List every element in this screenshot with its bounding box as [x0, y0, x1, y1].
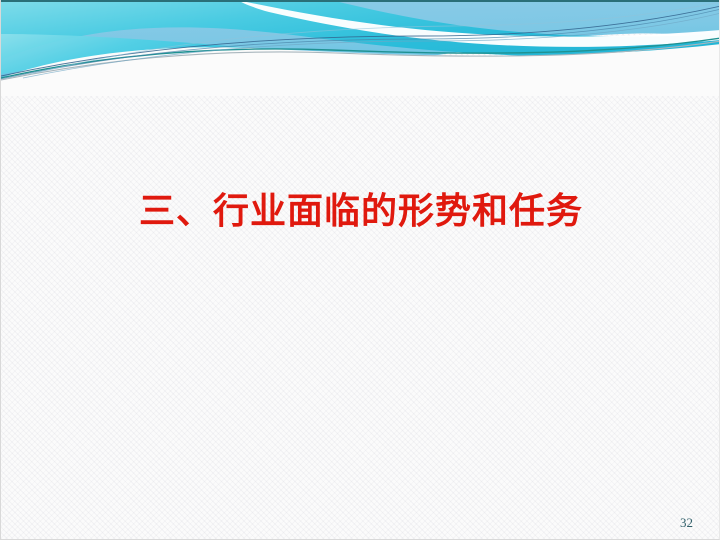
- page-title: 三、行业面临的形势和任务: [139, 188, 583, 234]
- presentation-slide: 三、行业面临的形势和任务 32: [0, 0, 720, 540]
- page-number: 32: [680, 515, 693, 531]
- title-block: 三、行业面临的形势和任务: [1, 188, 720, 234]
- wave-banner-svg: [1, 0, 720, 96]
- decorative-wave-banner: [1, 0, 720, 96]
